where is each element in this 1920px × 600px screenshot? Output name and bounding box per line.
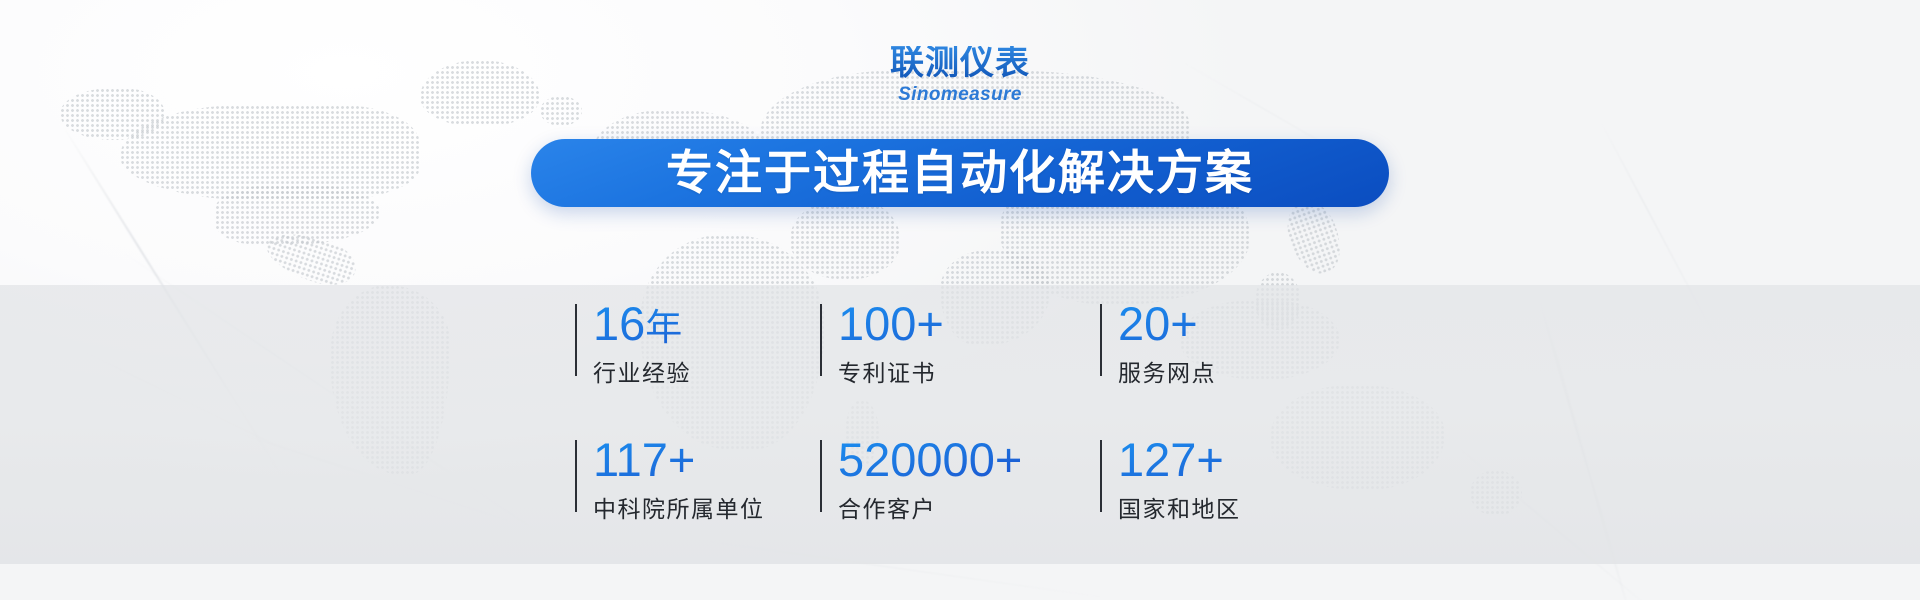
stat-label: 专利证书: [838, 354, 1100, 388]
stat-item-service-points: 20+ 服务网点: [1100, 300, 1355, 388]
brand-logo-cn: 联测仪表: [890, 46, 1030, 80]
stat-item-experience: 16年 行业经验: [575, 300, 820, 388]
stat-value: 127+: [1118, 436, 1355, 485]
promo-banner: 联测仪表 Sinomeasure 专注于过程自动化解决方案 16年 行业经验 1…: [0, 0, 1920, 600]
stat-label: 国家和地区: [1118, 490, 1355, 524]
stats-row-2: 117+ 中科院所属单位 520000+ 合作客户 127+ 国家和地区: [575, 436, 1355, 524]
stat-label: 服务网点: [1118, 354, 1355, 388]
stat-value: 100+: [838, 300, 1100, 349]
stat-value: 20+: [1118, 300, 1355, 349]
stat-value: 520000+: [838, 436, 1100, 485]
stats-row-1: 16年 行业经验 100+ 专利证书 20+ 服务网点: [575, 300, 1355, 388]
stats-grid: 16年 行业经验 100+ 专利证书 20+ 服务网点 117+ 中科院所属单位…: [575, 300, 1355, 524]
stat-item-patents: 100+ 专利证书: [820, 300, 1100, 388]
stat-item-cas-units: 117+ 中科院所属单位: [575, 436, 820, 524]
stat-label: 合作客户: [838, 490, 1100, 524]
stat-label: 中科院所属单位: [593, 490, 820, 524]
headline-text: 专注于过程自动化解决方案: [666, 150, 1254, 197]
stat-item-countries: 127+ 国家和地区: [1100, 436, 1355, 524]
stat-value: 117+: [593, 436, 820, 485]
stat-value: 16年: [593, 300, 820, 349]
brand-logo: 联测仪表 Sinomeasure: [0, 46, 1920, 104]
stat-item-customers: 520000+ 合作客户: [820, 436, 1100, 524]
stat-label: 行业经验: [593, 354, 820, 388]
brand-logo-en: Sinomeasure: [0, 85, 1920, 104]
stat-unit: 年: [645, 306, 682, 349]
headline-pill: 专注于过程自动化解决方案: [531, 139, 1389, 207]
